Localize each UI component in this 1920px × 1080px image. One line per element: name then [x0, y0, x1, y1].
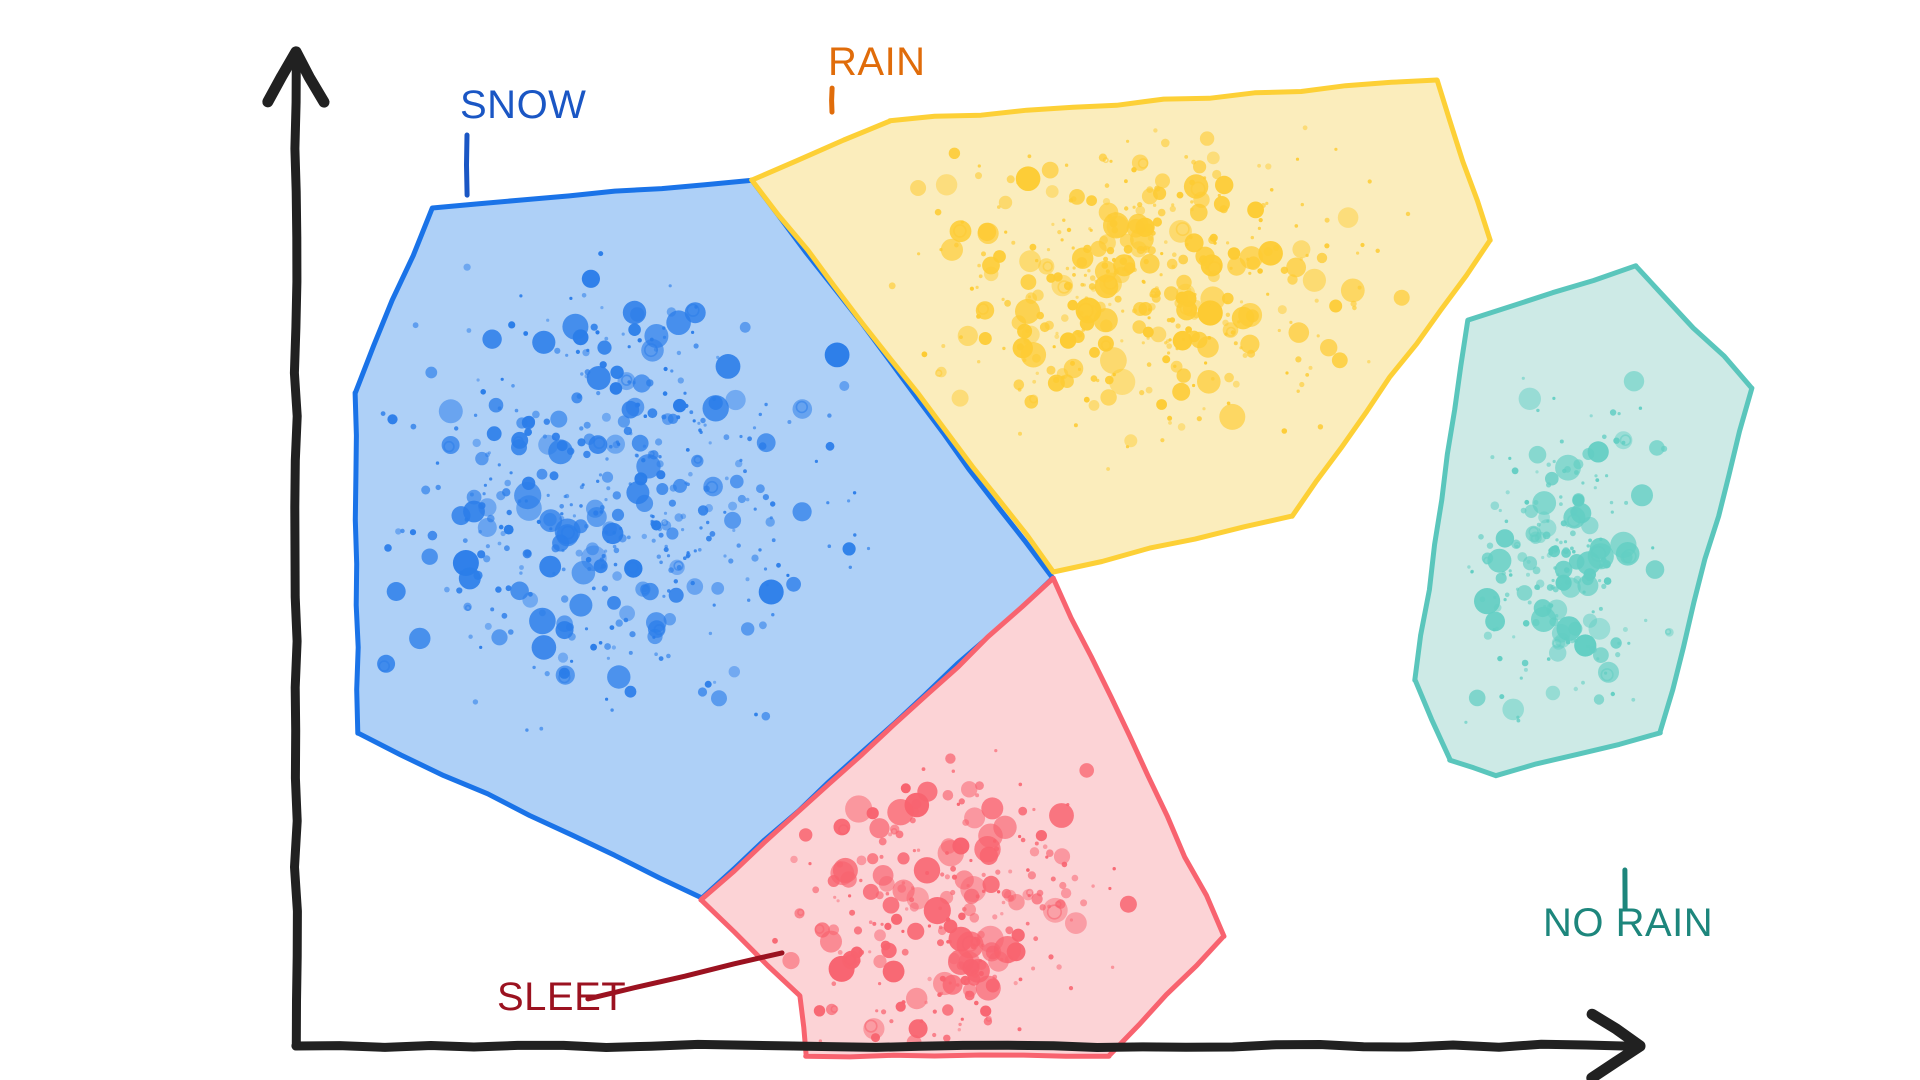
data-point — [713, 681, 716, 684]
data-point — [523, 331, 528, 336]
data-point — [1605, 474, 1608, 477]
data-point — [1588, 441, 1609, 462]
data-point — [881, 1009, 886, 1014]
data-point — [663, 336, 666, 339]
data-point — [1583, 614, 1597, 628]
data-point — [1524, 668, 1528, 672]
data-point — [974, 836, 1000, 862]
data-point — [1076, 296, 1079, 299]
data-point — [954, 243, 959, 248]
data-point — [668, 567, 674, 573]
data-point — [516, 495, 542, 521]
data-point — [1170, 206, 1176, 212]
data-point — [1624, 501, 1628, 505]
data-point — [943, 790, 954, 801]
data-point — [662, 595, 665, 598]
data-point — [935, 209, 942, 216]
data-point — [937, 939, 944, 946]
data-point — [1596, 657, 1599, 660]
data-point — [1532, 619, 1539, 626]
data-point — [1528, 601, 1532, 605]
data-point — [1069, 986, 1073, 990]
data-point — [940, 891, 953, 904]
data-point — [766, 517, 775, 526]
data-point — [729, 666, 740, 677]
data-point — [1286, 258, 1306, 278]
data-point — [1095, 280, 1098, 283]
data-point — [1059, 882, 1066, 889]
data-point — [732, 529, 735, 532]
data-point — [487, 426, 502, 441]
data-point — [976, 894, 980, 898]
data-point — [815, 922, 830, 937]
data-point — [772, 938, 778, 944]
data-point — [439, 399, 463, 423]
data-point — [1054, 848, 1070, 864]
data-point — [1053, 377, 1059, 383]
data-point — [1522, 660, 1529, 667]
data-point — [656, 483, 668, 495]
data-point — [691, 331, 694, 334]
data-point — [554, 348, 560, 354]
data-point — [1617, 642, 1620, 645]
data-point — [629, 631, 635, 637]
data-point — [606, 486, 610, 490]
data-point — [1604, 577, 1612, 585]
data-point — [422, 549, 438, 565]
data-point — [1018, 807, 1027, 816]
data-point — [1334, 148, 1337, 151]
data-point — [627, 380, 631, 384]
data-point — [693, 419, 696, 422]
data-point — [489, 398, 504, 413]
data-point — [1031, 967, 1035, 971]
data-point — [1160, 273, 1163, 276]
data-point — [576, 350, 580, 354]
data-point — [1014, 981, 1018, 985]
data-point — [646, 379, 653, 386]
data-point — [859, 879, 862, 882]
data-point — [387, 582, 406, 601]
data-point — [891, 914, 902, 925]
data-point — [594, 559, 608, 573]
data-point — [1030, 244, 1037, 251]
data-point — [1096, 379, 1099, 382]
data-point — [1257, 164, 1261, 168]
data-point — [1160, 252, 1163, 255]
data-point — [1226, 241, 1229, 244]
data-point — [1190, 200, 1193, 203]
data-point — [1008, 870, 1012, 874]
data-point — [1004, 300, 1011, 307]
data-point — [884, 923, 891, 930]
data-point — [1019, 783, 1023, 787]
data-point — [1226, 313, 1230, 317]
data-point — [558, 653, 568, 663]
data-point — [909, 1019, 928, 1038]
data-point — [754, 713, 758, 717]
data-point — [1061, 888, 1071, 898]
data-point — [602, 413, 611, 422]
data-point — [759, 621, 767, 629]
data-point — [657, 460, 664, 467]
data-point — [1172, 252, 1177, 257]
data-point — [1132, 155, 1148, 171]
data-point — [648, 408, 658, 418]
data-point — [974, 1001, 979, 1006]
data-point — [786, 577, 801, 592]
data-point — [579, 504, 583, 508]
data-point — [827, 413, 831, 417]
data-point — [979, 332, 992, 345]
data-point — [504, 525, 514, 535]
data-point — [1627, 642, 1630, 645]
data-point — [507, 510, 512, 515]
data-point — [1318, 424, 1323, 429]
data-point — [883, 961, 905, 983]
data-point — [1018, 1027, 1022, 1031]
data-point — [610, 625, 615, 630]
data-point — [713, 604, 716, 607]
data-point — [1265, 163, 1271, 169]
data-point — [1190, 204, 1208, 222]
data-point — [1611, 510, 1614, 513]
data-point — [648, 620, 666, 638]
data-point — [983, 876, 1000, 893]
data-point — [948, 940, 952, 944]
data-point — [677, 565, 682, 570]
data-point — [678, 377, 684, 383]
data-point — [1547, 657, 1551, 661]
data-point — [1325, 218, 1330, 223]
data-point — [759, 413, 762, 416]
data-point — [610, 708, 613, 711]
data-point — [772, 538, 776, 542]
data-point — [1512, 635, 1515, 638]
data-point — [747, 436, 752, 441]
data-point — [705, 681, 712, 688]
data-point — [1026, 922, 1030, 926]
data-point — [1285, 371, 1288, 374]
data-point — [1590, 646, 1597, 653]
data-point — [1002, 298, 1005, 301]
data-point — [1028, 154, 1032, 158]
data-point — [1030, 847, 1039, 856]
data-point — [1162, 355, 1170, 363]
data-point — [1610, 501, 1613, 504]
data-point — [1305, 373, 1309, 377]
data-point — [1270, 188, 1274, 192]
data-point — [436, 485, 441, 490]
data-point — [1021, 342, 1046, 367]
data-point — [664, 367, 668, 371]
data-point — [1109, 160, 1112, 163]
data-point — [411, 424, 417, 430]
data-point — [491, 629, 507, 645]
data-point — [1552, 397, 1555, 400]
data-point — [694, 343, 699, 348]
data-point — [1213, 241, 1216, 244]
data-point — [1108, 303, 1111, 306]
data-point — [1036, 372, 1039, 375]
data-point — [1032, 354, 1041, 363]
data-point — [612, 645, 616, 649]
data-point — [869, 818, 889, 838]
data-point — [387, 414, 397, 424]
data-point — [937, 992, 942, 997]
data-point — [1356, 252, 1359, 255]
data-point — [559, 504, 564, 509]
data-point — [1559, 502, 1563, 506]
data-point — [869, 920, 873, 924]
data-point — [659, 656, 664, 661]
data-point — [1091, 286, 1096, 291]
data-point — [688, 472, 693, 477]
data-point — [1080, 899, 1087, 906]
data-point — [1273, 245, 1279, 251]
data-point — [1587, 544, 1590, 547]
data-point — [604, 643, 611, 650]
data-point — [848, 894, 851, 897]
data-point — [495, 586, 501, 592]
data-point — [1547, 584, 1554, 591]
data-point — [1090, 229, 1093, 232]
data-point — [782, 952, 799, 969]
data-point — [1611, 692, 1615, 696]
data-point — [1295, 356, 1301, 362]
data-point — [756, 484, 765, 493]
data-point — [1124, 262, 1135, 273]
data-point — [635, 582, 650, 597]
data-point — [1061, 314, 1069, 322]
data-point — [843, 542, 856, 555]
data-point — [473, 439, 481, 447]
data-point — [1091, 884, 1094, 887]
data-point — [1509, 569, 1512, 572]
data-point — [482, 330, 501, 349]
data-point — [1559, 495, 1562, 498]
data-point — [484, 484, 487, 487]
data-point — [1147, 362, 1152, 367]
data-point — [1028, 871, 1036, 879]
data-point — [981, 251, 986, 256]
data-point — [638, 338, 642, 342]
data-point — [776, 563, 781, 568]
data-point — [1317, 334, 1320, 337]
data-point — [586, 542, 599, 555]
data-point — [976, 286, 979, 289]
data-point — [815, 460, 818, 463]
data-point — [1495, 627, 1498, 630]
data-point — [705, 504, 713, 512]
data-point — [605, 531, 608, 534]
data-point — [1251, 236, 1254, 239]
data-point — [681, 514, 687, 520]
data-point — [793, 502, 812, 521]
data-point — [751, 555, 758, 562]
data-point — [787, 420, 791, 424]
data-point — [1574, 687, 1578, 691]
data-point — [626, 398, 645, 417]
data-point — [1512, 467, 1519, 474]
data-point — [730, 475, 744, 489]
data-point — [833, 896, 836, 899]
data-point — [1077, 257, 1088, 268]
data-point — [1077, 332, 1082, 337]
data-point — [901, 783, 911, 793]
data-point — [1525, 505, 1538, 518]
data-point — [995, 870, 1000, 875]
data-point — [1148, 316, 1151, 319]
data-point — [757, 433, 776, 452]
data-point — [1246, 258, 1249, 261]
data-point — [567, 448, 574, 455]
data-point — [1266, 293, 1269, 296]
data-point — [1048, 954, 1053, 959]
data-point — [384, 544, 392, 552]
data-point — [602, 521, 617, 536]
data-point — [669, 588, 684, 603]
data-point — [569, 297, 572, 300]
data-point — [579, 426, 583, 430]
data-point — [1502, 699, 1524, 721]
data-point — [1069, 198, 1073, 202]
data-point — [1234, 341, 1238, 345]
data-point — [889, 1019, 893, 1023]
data-point — [896, 831, 904, 839]
data-point — [1467, 565, 1470, 568]
data-point — [1499, 509, 1502, 512]
data-point — [854, 926, 862, 934]
data-point — [859, 950, 865, 956]
data-point — [1478, 534, 1484, 540]
data-point — [582, 293, 587, 298]
data-point — [1012, 315, 1027, 330]
data-point — [1153, 128, 1157, 132]
data-point — [939, 248, 942, 251]
data-point — [912, 799, 922, 809]
data-point — [1150, 294, 1153, 297]
data-point — [839, 381, 849, 391]
data-point — [1552, 579, 1555, 582]
data-point — [552, 544, 560, 552]
data-point — [1292, 240, 1310, 258]
data-point — [687, 578, 704, 595]
data-point — [573, 514, 576, 517]
data-point — [674, 579, 678, 583]
data-point — [1100, 236, 1108, 244]
data-point — [1278, 329, 1281, 332]
data-point — [1620, 551, 1632, 563]
data-point — [1144, 259, 1149, 264]
data-point — [1521, 508, 1527, 514]
data-point — [1487, 543, 1493, 549]
data-point — [506, 585, 512, 591]
data-point — [504, 480, 511, 487]
data-point — [917, 849, 920, 852]
data-point — [677, 351, 681, 355]
data-point — [1089, 400, 1100, 411]
data-point — [583, 451, 590, 458]
data-point — [1005, 955, 1013, 963]
data-point — [1173, 331, 1193, 351]
data-point — [1504, 598, 1507, 601]
data-point — [1570, 530, 1576, 536]
data-point — [867, 853, 878, 864]
data-point — [1072, 246, 1075, 249]
data-point — [1095, 302, 1106, 313]
data-point — [664, 512, 667, 515]
data-point — [906, 988, 927, 1009]
data-point — [1047, 248, 1050, 251]
data-point — [1178, 423, 1186, 431]
data-point — [560, 512, 563, 515]
data-point — [1108, 887, 1111, 890]
data-point — [1079, 763, 1094, 778]
data-point — [703, 486, 709, 492]
data-point — [1032, 808, 1035, 811]
data-point — [901, 930, 904, 933]
data-point — [570, 503, 573, 506]
data-point — [669, 500, 676, 507]
data-point — [1278, 305, 1287, 314]
data-point — [747, 599, 750, 602]
data-point — [1066, 267, 1069, 270]
data-point — [958, 1023, 961, 1026]
data-point — [1107, 247, 1114, 254]
data-point — [1021, 838, 1026, 843]
data-point — [1146, 387, 1153, 394]
data-point — [759, 580, 784, 605]
data-point — [591, 324, 598, 331]
data-point — [965, 991, 975, 1001]
data-point — [544, 419, 550, 425]
data-point — [632, 435, 649, 452]
data-point — [867, 807, 879, 819]
data-point — [1037, 890, 1044, 897]
data-point — [488, 451, 491, 454]
data-point — [689, 410, 693, 414]
data-point — [1120, 339, 1123, 342]
data-point — [1555, 561, 1573, 579]
data-point — [570, 660, 573, 663]
data-point — [1553, 460, 1556, 463]
data-point — [1570, 547, 1574, 551]
data-point — [607, 657, 610, 660]
data-point — [1536, 409, 1539, 412]
data-point — [1499, 694, 1504, 699]
data-point — [496, 491, 505, 500]
data-point — [537, 469, 548, 480]
data-point — [1502, 571, 1506, 575]
data-point — [970, 913, 980, 923]
data-point — [657, 527, 662, 532]
data-point — [1257, 268, 1263, 274]
data-point — [499, 525, 504, 530]
data-point — [1577, 575, 1598, 596]
data-point — [1303, 269, 1326, 292]
data-point — [1192, 300, 1202, 310]
data-point — [1045, 856, 1048, 859]
data-point — [1086, 195, 1097, 206]
data-point — [1144, 224, 1153, 233]
data-point — [723, 554, 726, 557]
data-point — [1571, 640, 1575, 644]
data-point — [1018, 432, 1022, 436]
data-point — [1341, 279, 1365, 303]
data-point — [1497, 656, 1502, 661]
data-point — [735, 460, 742, 467]
